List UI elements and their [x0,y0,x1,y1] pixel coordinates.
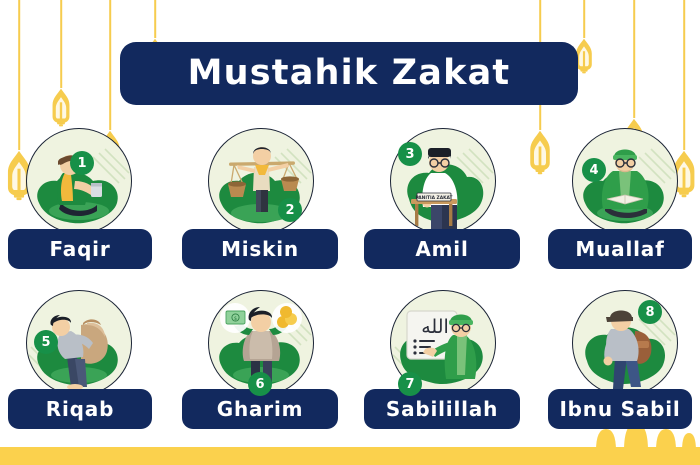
lantern-body-icon [525,130,555,175]
farmer-carrying-baskets-illustration[interactable] [208,128,314,234]
teacher-at-whiteboard-illustration[interactable]: الله [390,290,496,396]
sitting-person-with-bowl-illustration[interactable] [26,128,132,234]
lantern-cord-icon [60,0,62,88]
label-text-riqab: Riqab [46,397,114,421]
label-text-miskin: Miskin [221,237,299,261]
lantern-cord-icon [109,0,111,130]
label-pill-muallaf[interactable]: Muallaf [548,229,692,269]
label-pill-riqab[interactable]: Riqab [8,389,152,429]
lantern-cord-icon [583,0,585,38]
zakat-officer-at-desk-illustration[interactable]: PANITIA ZAKAT [390,128,496,234]
label-text-sabilillah: Sabilillah [386,397,498,421]
lantern-icon [48,0,74,127]
bottom-gold-bar [0,447,700,465]
lantern-cord-icon [633,0,635,118]
label-pill-miskin[interactable]: Miskin [182,229,338,269]
lantern-cord-icon [18,0,20,150]
person-carrying-sack-illustration[interactable] [26,290,132,396]
svg-text:$: $ [234,316,237,322]
lantern-cord-icon [154,0,156,38]
label-pill-ibnu-sabil[interactable]: Ibnu Sabil [548,389,692,429]
man-reading-quran-illustration[interactable] [572,128,678,234]
label-pill-gharim[interactable]: Gharim [182,389,338,429]
label-pill-sabilillah[interactable]: Sabilillah [364,389,520,429]
person-in-debt-with-money-illustration[interactable]: $ [208,290,314,396]
infographic-canvas: Mustahik Zakat 1Faqir2MiskinPANITIA ZAKA… [0,0,700,465]
lantern-body-icon [48,88,74,127]
label-pill-amil[interactable]: Amil [364,229,520,269]
traveler-with-backpack-illustration[interactable] [572,290,678,396]
label-text-amil: Amil [415,237,468,261]
label-text-ibnu-sabil: Ibnu Sabil [559,397,680,421]
label-text-gharim: Gharim [217,397,304,421]
lantern-cord-icon [683,0,685,150]
page-title: Mustahik Zakat [188,56,511,91]
label-text-faqir: Faqir [49,237,110,261]
svg-text:PANITIA ZAKAT: PANITIA ZAKAT [415,195,452,201]
label-text-muallaf: Muallaf [575,237,664,261]
label-pill-faqir[interactable]: Faqir [8,229,152,269]
svg-text:الله: الله [421,316,449,338]
page-title-banner: Mustahik Zakat [120,42,578,105]
